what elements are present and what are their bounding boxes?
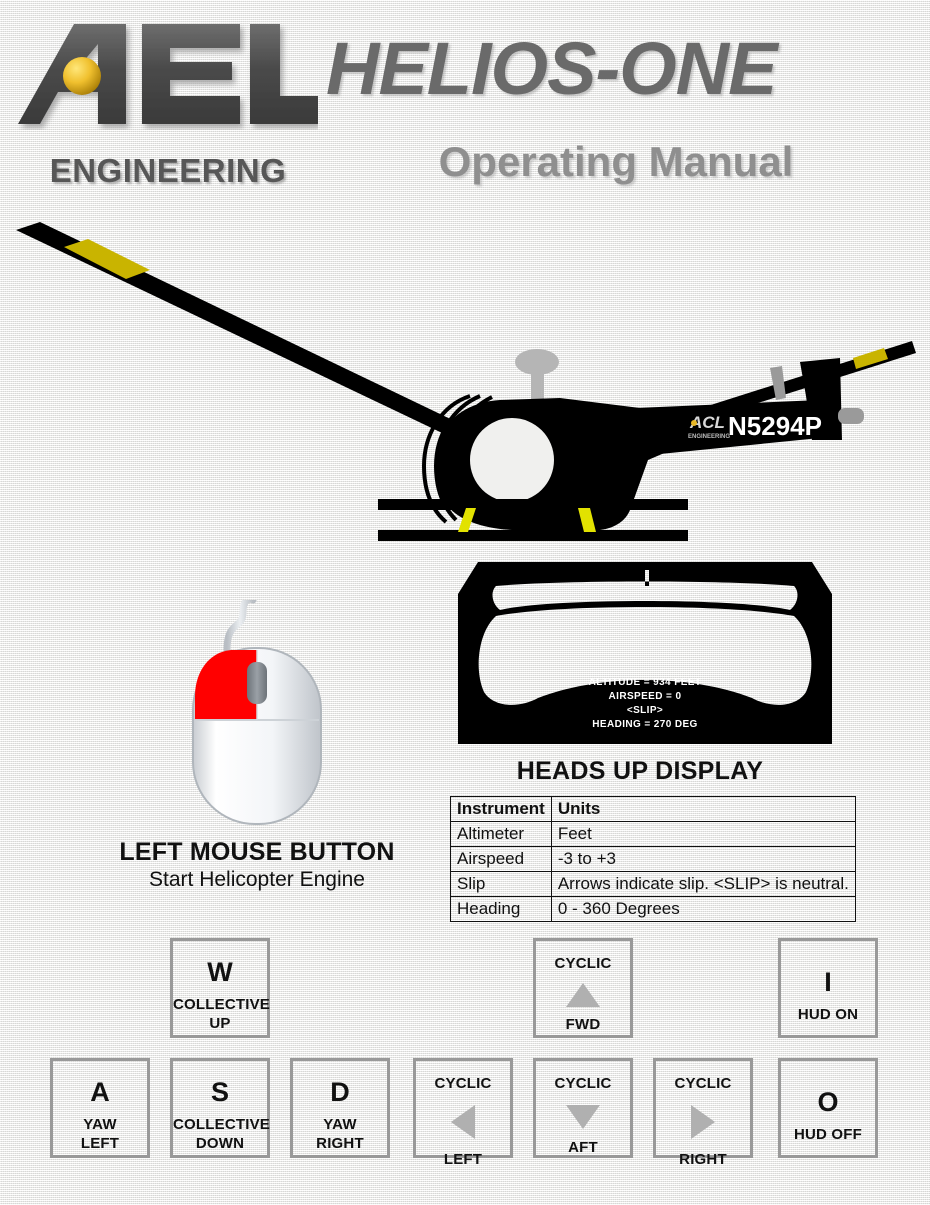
tail-logo-sub: ENGINEERING [688, 434, 730, 440]
key-s-label-2: DOWN [173, 1134, 267, 1153]
mouse-scroll-wheel [247, 662, 267, 704]
key-cyclic-right[interactable]: CYCLIC RIGHT [653, 1058, 753, 1158]
mouse-cord [227, 600, 253, 650]
key-cyclic-forward-title: CYCLIC [536, 955, 630, 973]
key-a-glyph: A [53, 1079, 147, 1106]
control-key-legend: W COLLECTIVE UP A YAW LEFT S COLLECTIVE … [0, 930, 930, 1170]
key-w[interactable]: W COLLECTIVE UP [170, 938, 270, 1038]
table-cell-units: Arrows indicate slip. <SLIP> is neutral. [551, 872, 855, 897]
mouse-graphic[interactable] [157, 600, 357, 830]
table-header-units: Units [551, 797, 855, 822]
hud-readout-line: <SLIP> [440, 704, 850, 718]
manual-subtitle: Operating Manual [326, 138, 906, 186]
table-cell-instrument: Airspeed [451, 847, 552, 872]
key-o-glyph: O [781, 1089, 875, 1116]
key-o-label: HUD OFF [781, 1125, 875, 1144]
key-a-label-2: LEFT [53, 1134, 147, 1153]
mouse-title: LEFT MOUSE BUTTON [92, 838, 422, 867]
table-cell-units: 0 - 360 Degrees [551, 897, 855, 922]
hud-readout-line: AIRSPEED = 0 [440, 690, 850, 704]
key-i-label: HUD ON [781, 1005, 875, 1024]
key-w-label-2: UP [173, 1014, 267, 1033]
hud-readout: ALTITUDE = 934 FEET AIRSPEED = 0 <SLIP> … [440, 676, 850, 732]
arrow-up-icon [566, 983, 600, 1007]
table-cell-units: Feet [551, 822, 855, 847]
hud-readout-line: ALTITUDE = 934 FEET [440, 676, 850, 690]
key-cyclic-aft[interactable]: CYCLIC AFT [533, 1058, 633, 1158]
key-cyclic-right-title: CYCLIC [656, 1075, 750, 1093]
key-cyclic-forward-dir: FWD [536, 1016, 630, 1034]
table-cell-instrument: Heading [451, 897, 552, 922]
key-d-label-1: YAW [293, 1115, 387, 1134]
instrument-table: Instrument Units Altimeter Feet Airspeed… [450, 796, 856, 922]
table-row: Airspeed -3 to +3 [451, 847, 856, 872]
tail-rotor-stub [838, 408, 864, 424]
key-cyclic-right-dir: RIGHT [656, 1151, 750, 1169]
key-a-label-1: YAW [53, 1115, 147, 1134]
tail-registration-group: ACL ENGINEERING N5294P [688, 411, 822, 441]
table-header-instrument: Instrument [451, 797, 552, 822]
key-i-glyph: I [781, 969, 875, 996]
table-cell-units: -3 to +3 [551, 847, 855, 872]
key-s-label-1: COLLECTIVE [173, 1115, 267, 1134]
key-w-label-1: COLLECTIVE [173, 995, 267, 1014]
hud-caption: HEADS UP DISPLAY [440, 757, 840, 786]
key-d[interactable]: D YAW RIGHT [290, 1058, 390, 1158]
key-a[interactable]: A YAW LEFT [50, 1058, 150, 1158]
key-i[interactable]: I HUD ON [778, 938, 878, 1038]
acl-engineering-label: ENGINEERING [18, 152, 318, 190]
key-s[interactable]: S COLLECTIVE DOWN [170, 1058, 270, 1158]
helios-one-wordmark: HELIOS-ONE [326, 26, 906, 112]
acl-gold-sphere [63, 57, 101, 95]
key-cyclic-aft-title: CYCLIC [536, 1075, 630, 1093]
key-d-glyph: D [293, 1079, 387, 1106]
rotor-hub [515, 349, 559, 405]
table-cell-instrument: Slip [451, 872, 552, 897]
mouse-description: Start Helicopter Engine [92, 868, 422, 892]
arrow-right-icon [691, 1105, 715, 1139]
mouse-diagram-block: LEFT MOUSE BUTTON Start Helicopter Engin… [92, 600, 422, 905]
table-row: Altimeter Feet [451, 822, 856, 847]
acl-logo-mark [18, 18, 318, 130]
table-cell-instrument: Altimeter [451, 822, 552, 847]
table-header-row: Instrument Units [451, 797, 856, 822]
key-o[interactable]: O HUD OFF [778, 1058, 878, 1158]
cockpit-window [470, 418, 554, 502]
key-w-glyph: W [173, 959, 267, 986]
table-row: Slip Arrows indicate slip. <SLIP> is neu… [451, 872, 856, 897]
key-cyclic-left-dir: LEFT [416, 1151, 510, 1169]
table-row: Heading 0 - 360 Degrees [451, 897, 856, 922]
helicopter-illustration: ACL ENGINEERING N5294P [0, 210, 930, 555]
hud-panel-block: ALTITUDE = 934 FEET AIRSPEED = 0 <SLIP> … [440, 552, 850, 752]
key-s-glyph: S [173, 1079, 267, 1106]
page-header: ENGINEERING HELIOS-ONE Operating Manual [0, 0, 930, 205]
tail-registration: N5294P [728, 411, 822, 441]
key-cyclic-forward[interactable]: CYCLIC FWD [533, 938, 633, 1038]
key-cyclic-aft-dir: AFT [536, 1139, 630, 1157]
key-d-label-2: RIGHT [293, 1134, 387, 1153]
arrow-down-icon [566, 1105, 600, 1129]
key-cyclic-left-title: CYCLIC [416, 1075, 510, 1093]
arrow-left-icon [451, 1105, 475, 1139]
key-cyclic-left[interactable]: CYCLIC LEFT [413, 1058, 513, 1158]
acl-logo: ENGINEERING [18, 18, 318, 198]
hud-readout-line: HEADING = 270 DEG [440, 718, 850, 732]
